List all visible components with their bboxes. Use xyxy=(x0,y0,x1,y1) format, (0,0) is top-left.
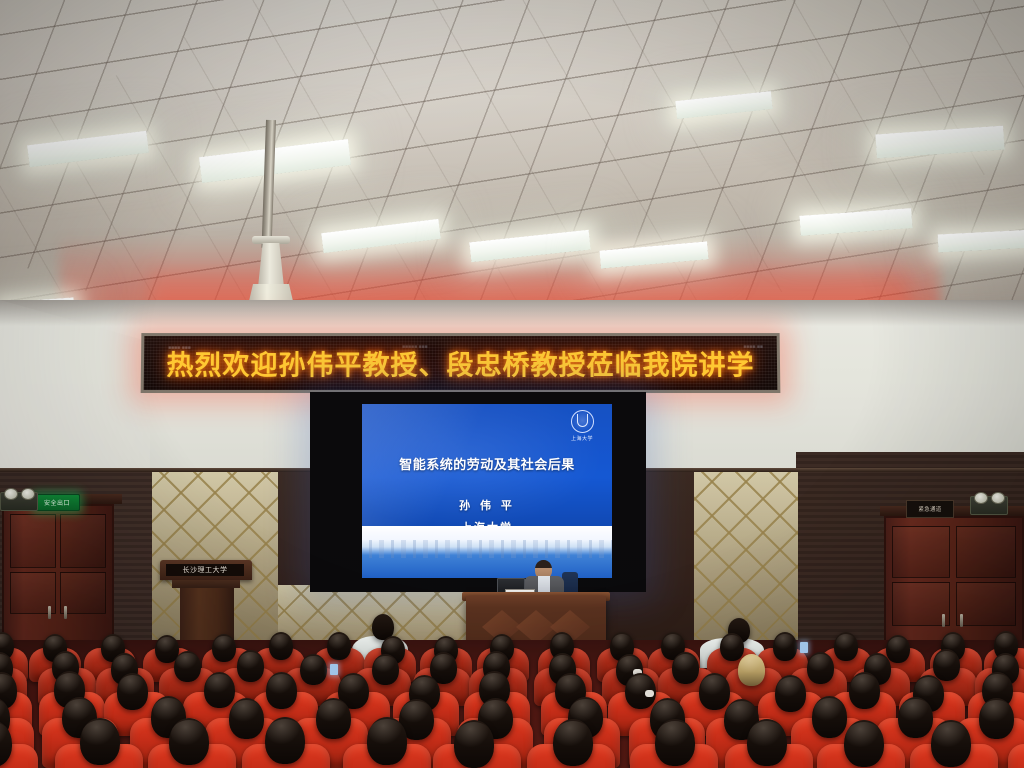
audience-head-highlight xyxy=(984,674,1011,696)
presentation-slide: 上海大学 智能系统的劳动及其社会后果 孙 伟 平 上海大学 xyxy=(362,404,612,578)
camera-collar xyxy=(252,236,290,244)
slide-author: 孙 伟 平 xyxy=(362,497,612,513)
audience-head-highlight xyxy=(103,636,123,653)
door-handle-icon[interactable] xyxy=(64,606,67,619)
audience-head-highlight xyxy=(701,675,728,697)
audience-head-highlight xyxy=(994,655,1017,674)
slide-skyline-image xyxy=(362,526,612,578)
emergency-light-right xyxy=(970,496,1008,515)
door-handle-icon[interactable] xyxy=(48,606,51,619)
led-welcome-banner: ■■■■ ■■■ ■■■■■ ■■■ ■■■■ ■■ 热烈欢迎孙伟平教授、段忠桥… xyxy=(141,333,781,393)
led-screen: ■■■■ ■■■ ■■■■■ ■■■ ■■■■ ■■ 热烈欢迎孙伟平教授、段忠桥… xyxy=(144,336,778,390)
audience-head-highlight xyxy=(726,701,757,726)
audience-head-highlight xyxy=(401,701,432,726)
audience-head-highlight xyxy=(206,674,233,696)
audience-head-highlight xyxy=(915,677,942,699)
door-panel xyxy=(10,514,56,568)
lectern-neck xyxy=(172,580,240,588)
logo-emblem-icon xyxy=(571,410,594,433)
exit-sign-label: 安全出口 xyxy=(44,498,70,507)
slide-skyline-buildings xyxy=(362,540,612,558)
audience-head-highlight xyxy=(722,635,742,652)
audience-head-highlight xyxy=(383,638,403,655)
wall-plate-label: 紧急通道 xyxy=(918,505,941,513)
audience-head-highlight xyxy=(153,698,184,723)
audience-head-highlight xyxy=(888,637,908,654)
audience-head-highlight xyxy=(657,721,693,749)
audience-head-highlight xyxy=(374,656,397,675)
audience-head-highlight xyxy=(836,634,856,651)
audience-head-highlight xyxy=(851,674,878,696)
door-handle-icon[interactable] xyxy=(942,614,945,627)
wall-ceiling-shadow xyxy=(0,300,1024,326)
audience-head-highlight xyxy=(82,720,118,748)
audience-head-highlight xyxy=(268,674,295,696)
phone-screen xyxy=(800,642,808,653)
door-panel xyxy=(892,526,950,578)
audience-head-highlight xyxy=(56,673,83,695)
audience-head-highlight xyxy=(340,675,367,697)
emergency-lamp-icon xyxy=(21,488,35,500)
audience-head-highlight xyxy=(814,698,845,723)
audience-head-highlight xyxy=(935,651,958,670)
door-panel xyxy=(956,526,1016,578)
lecture-hall-photo: ■■■■ ■■■ ■■■■■ ■■■ ■■■■ ■■ 热烈欢迎孙伟平教授、段忠桥… xyxy=(0,0,1024,768)
audience-head-highlight xyxy=(54,653,77,672)
audience-head-highlight xyxy=(480,700,511,725)
door-handle-icon[interactable] xyxy=(960,614,963,627)
face-mask xyxy=(645,690,654,697)
university-logo: 上海大学 xyxy=(564,410,600,442)
door-panel xyxy=(60,514,106,568)
logo-caption: 上海大学 xyxy=(564,435,600,442)
audience-head-highlight xyxy=(369,719,405,747)
exit-sign-left: 安全出口 xyxy=(34,494,80,511)
emergency-lamp-icon xyxy=(974,492,988,504)
led-banner-text: 热烈欢迎孙伟平教授、段忠桥教授莅临我院讲学 xyxy=(144,344,777,383)
emergency-lamp-icon xyxy=(4,488,18,500)
emergency-light-left xyxy=(0,492,38,511)
emergency-lamp-icon xyxy=(991,492,1005,504)
audience-head-highlight xyxy=(329,634,349,651)
audience-head-highlight xyxy=(551,655,574,674)
wall-sign-plate-right: 紧急通道 xyxy=(906,500,954,518)
audience-head-highlight xyxy=(267,719,303,747)
audience-head-highlight xyxy=(933,722,969,750)
audience-head-highlight xyxy=(555,721,591,749)
audience-head-highlight xyxy=(432,654,455,673)
door-panel xyxy=(956,582,1016,626)
audience-head-highlight xyxy=(749,721,785,749)
audience-head-highlight xyxy=(809,654,832,673)
audience-head-highlight xyxy=(740,656,763,675)
audience-head-highlight xyxy=(777,677,804,699)
audience-head-highlight xyxy=(663,634,683,651)
slide-title: 智能系统的劳动及其社会后果 xyxy=(362,454,612,473)
audience-head-highlight xyxy=(318,700,349,725)
lectern-label: 长沙理工大学 xyxy=(183,565,228,575)
audience-head-highlight xyxy=(552,634,572,651)
lectern-nameplate: 长沙理工大学 xyxy=(166,564,244,576)
audience-head-highlight xyxy=(239,652,262,671)
audience-head-highlight xyxy=(271,634,291,651)
audience-head-highlight xyxy=(176,653,199,672)
phone-screen xyxy=(330,664,338,675)
audience-head-highlight xyxy=(231,700,262,725)
